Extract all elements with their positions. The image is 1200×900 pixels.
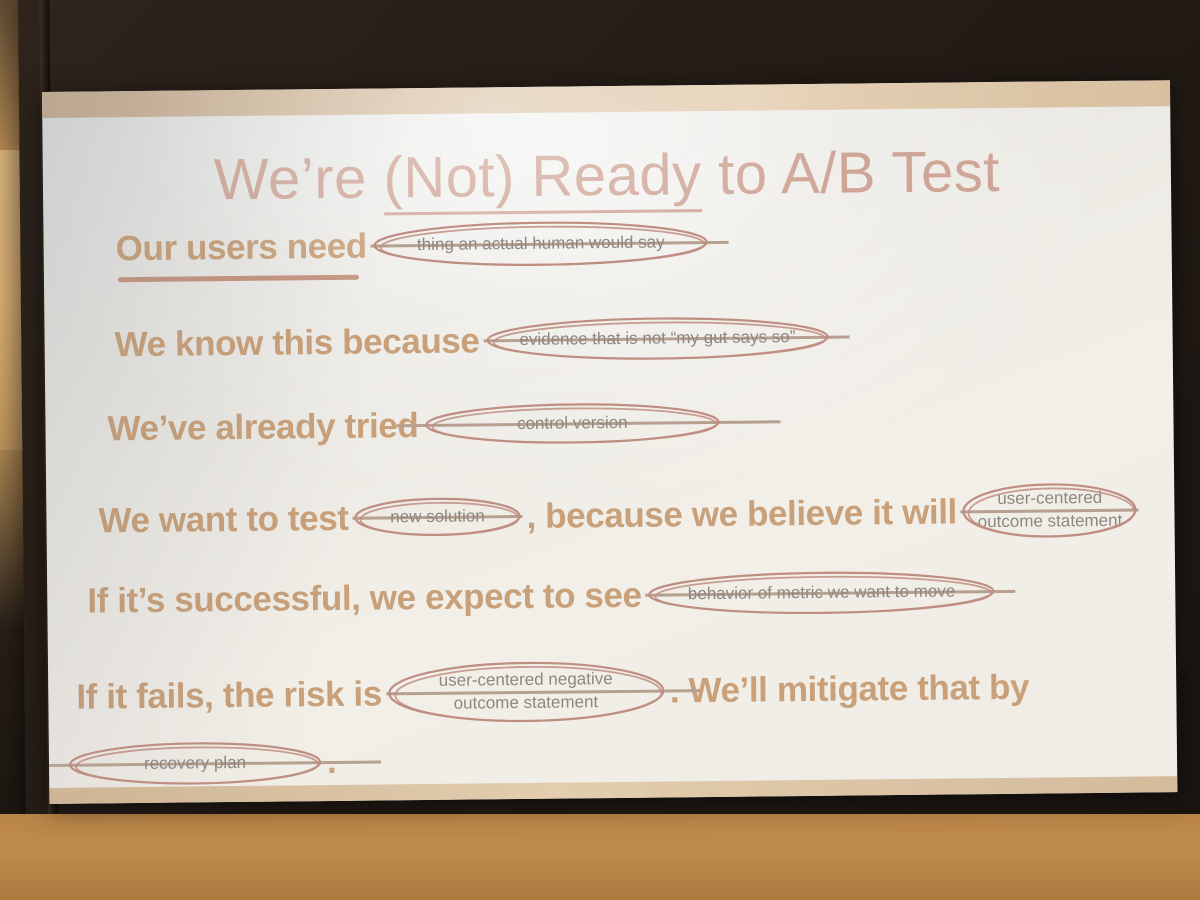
line-4-annotation-b: user-centeredoutcome statement	[961, 487, 1138, 535]
line-6-annotation: user-centered negativeoutcome statement	[423, 668, 629, 716]
fill-in-line-6: If it fails, the risk is user-centered n…	[76, 656, 1029, 728]
line-5-prompt: If it’s successful, we expect to see	[87, 577, 642, 618]
fill-in-line-3: We’ve already tried control version	[107, 401, 726, 449]
slide-title-before: We’re	[214, 145, 384, 212]
fill-in-line-1: Our users need thing an actual human wou…	[115, 219, 715, 271]
room-wall-bottom	[0, 814, 1200, 900]
photographed-presentation-screen: We’re (Not) Ready to A/B Test Our users …	[0, 0, 1200, 900]
line-2-prompt: We know this because	[114, 323, 479, 362]
line-7-annotation: recovery plan	[128, 751, 262, 775]
slide-content: We’re (Not) Ready to A/B Test Our users …	[42, 106, 1177, 788]
line-3-annotation: control version	[501, 411, 644, 435]
line-6-annotation-row2: outcome statement	[454, 692, 599, 713]
line-7-blank[interactable]: recovery plan	[67, 740, 323, 787]
line-3-prompt: We’ve already tried	[107, 408, 418, 446]
line-4-prompt: We want to test	[98, 500, 348, 538]
line-4-annotation-a: new solution	[374, 505, 501, 529]
fill-in-line-2: We know this because evidence that is no…	[114, 315, 835, 367]
line-1-annotation: thing an actual human would say	[401, 231, 681, 257]
fill-in-line-5: If it’s successful, we expect to see beh…	[87, 570, 1002, 622]
line-4-annotation-b-row1: user-centered	[997, 488, 1102, 508]
line-6-annotation-row1: user-centered negative	[439, 669, 613, 690]
line-3-blank[interactable]: control version	[422, 401, 722, 446]
slide-title-underlined: (Not) Ready	[383, 142, 702, 215]
line-1-prompt: Our users need	[115, 228, 367, 266]
line-2-annotation: evidence that is not “my gut says so”	[503, 325, 811, 351]
fill-in-line-4: We want to test new solution , because w…	[98, 481, 1143, 548]
slide-title: We’re (Not) Ready to A/B Test	[43, 136, 1172, 215]
slide-canvas: We’re (Not) Ready to A/B Test Our users …	[42, 80, 1177, 804]
line-4-suffix: , because we believe it will	[526, 494, 957, 534]
line-4-blank-b[interactable]: user-centeredoutcome statement	[961, 482, 1140, 540]
projected-slide: We’re (Not) Ready to A/B Test Our users …	[42, 80, 1177, 804]
slide-title-after: to A/B Test	[701, 139, 1000, 207]
line-6-blank[interactable]: user-centered negativeoutcome statement	[386, 660, 667, 725]
line-2-blank[interactable]: evidence that is not “my gut says so”	[483, 315, 831, 363]
line-5-blank[interactable]: behavior of metric we want to move	[645, 570, 997, 616]
line-6-suffix: . We’ll mitigate that by	[670, 669, 1030, 708]
line-4-annotation-b-row2: outcome statement	[978, 511, 1123, 532]
line-6-prompt: If it fails, the risk is	[76, 676, 382, 714]
line-1-blank[interactable]: thing an actual human would say	[371, 219, 711, 269]
line-4-blank-a[interactable]: new solution	[352, 496, 522, 538]
fill-in-line-7: recovery plan .	[63, 740, 337, 787]
line-5-annotation: behavior of metric we want to move	[672, 580, 972, 606]
